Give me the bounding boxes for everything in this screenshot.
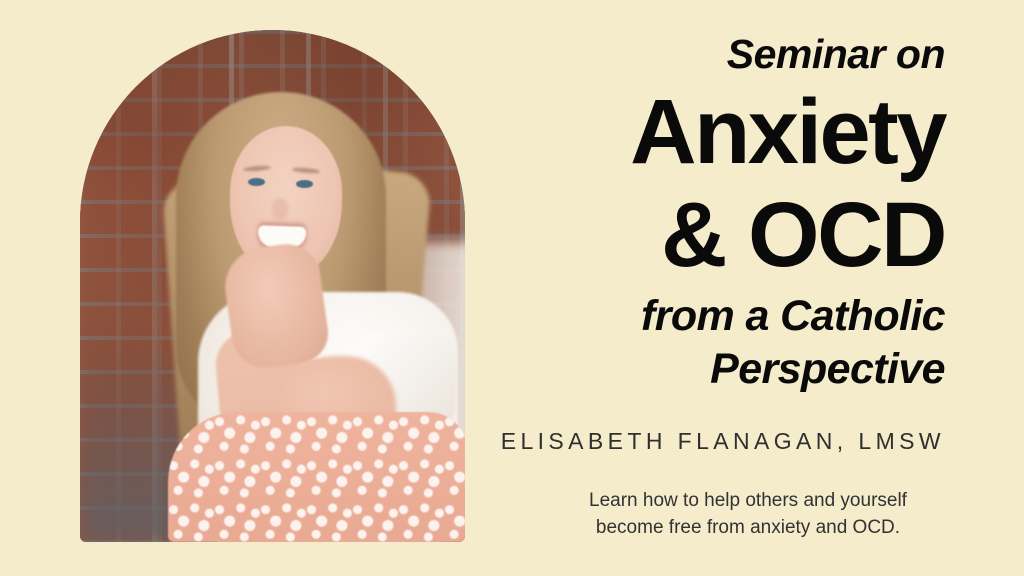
nose (272, 198, 288, 220)
blurb-line-2: become free from anxiety and OCD. (548, 515, 948, 542)
blurb-line-1: Learn how to help others and yourself (548, 488, 948, 515)
eye-left (248, 178, 265, 186)
headline-subline-perspective: Perspective (710, 348, 945, 391)
blurb: Learn how to help others and yourself be… (548, 488, 948, 542)
seminar-poster: Seminar on Anxiety & OCD from a Catholic… (0, 0, 1024, 576)
text-column: Seminar on Anxiety & OCD from a Catholic… (496, 0, 1024, 576)
headline-line-ocd: & OCD (661, 189, 945, 281)
headline-subline-from-a-catholic: from a Catholic (641, 295, 945, 338)
pink-patterned-skirt (168, 412, 465, 542)
headline-line-anxiety: Anxiety (630, 86, 945, 178)
headline-eyebrow: Seminar on (727, 34, 945, 75)
eye-right (296, 180, 313, 188)
presenter-photo (80, 30, 465, 542)
presenter-name: ELISABETH FLANAGAN, LMSW (501, 430, 945, 453)
clasped-hands (220, 240, 332, 372)
